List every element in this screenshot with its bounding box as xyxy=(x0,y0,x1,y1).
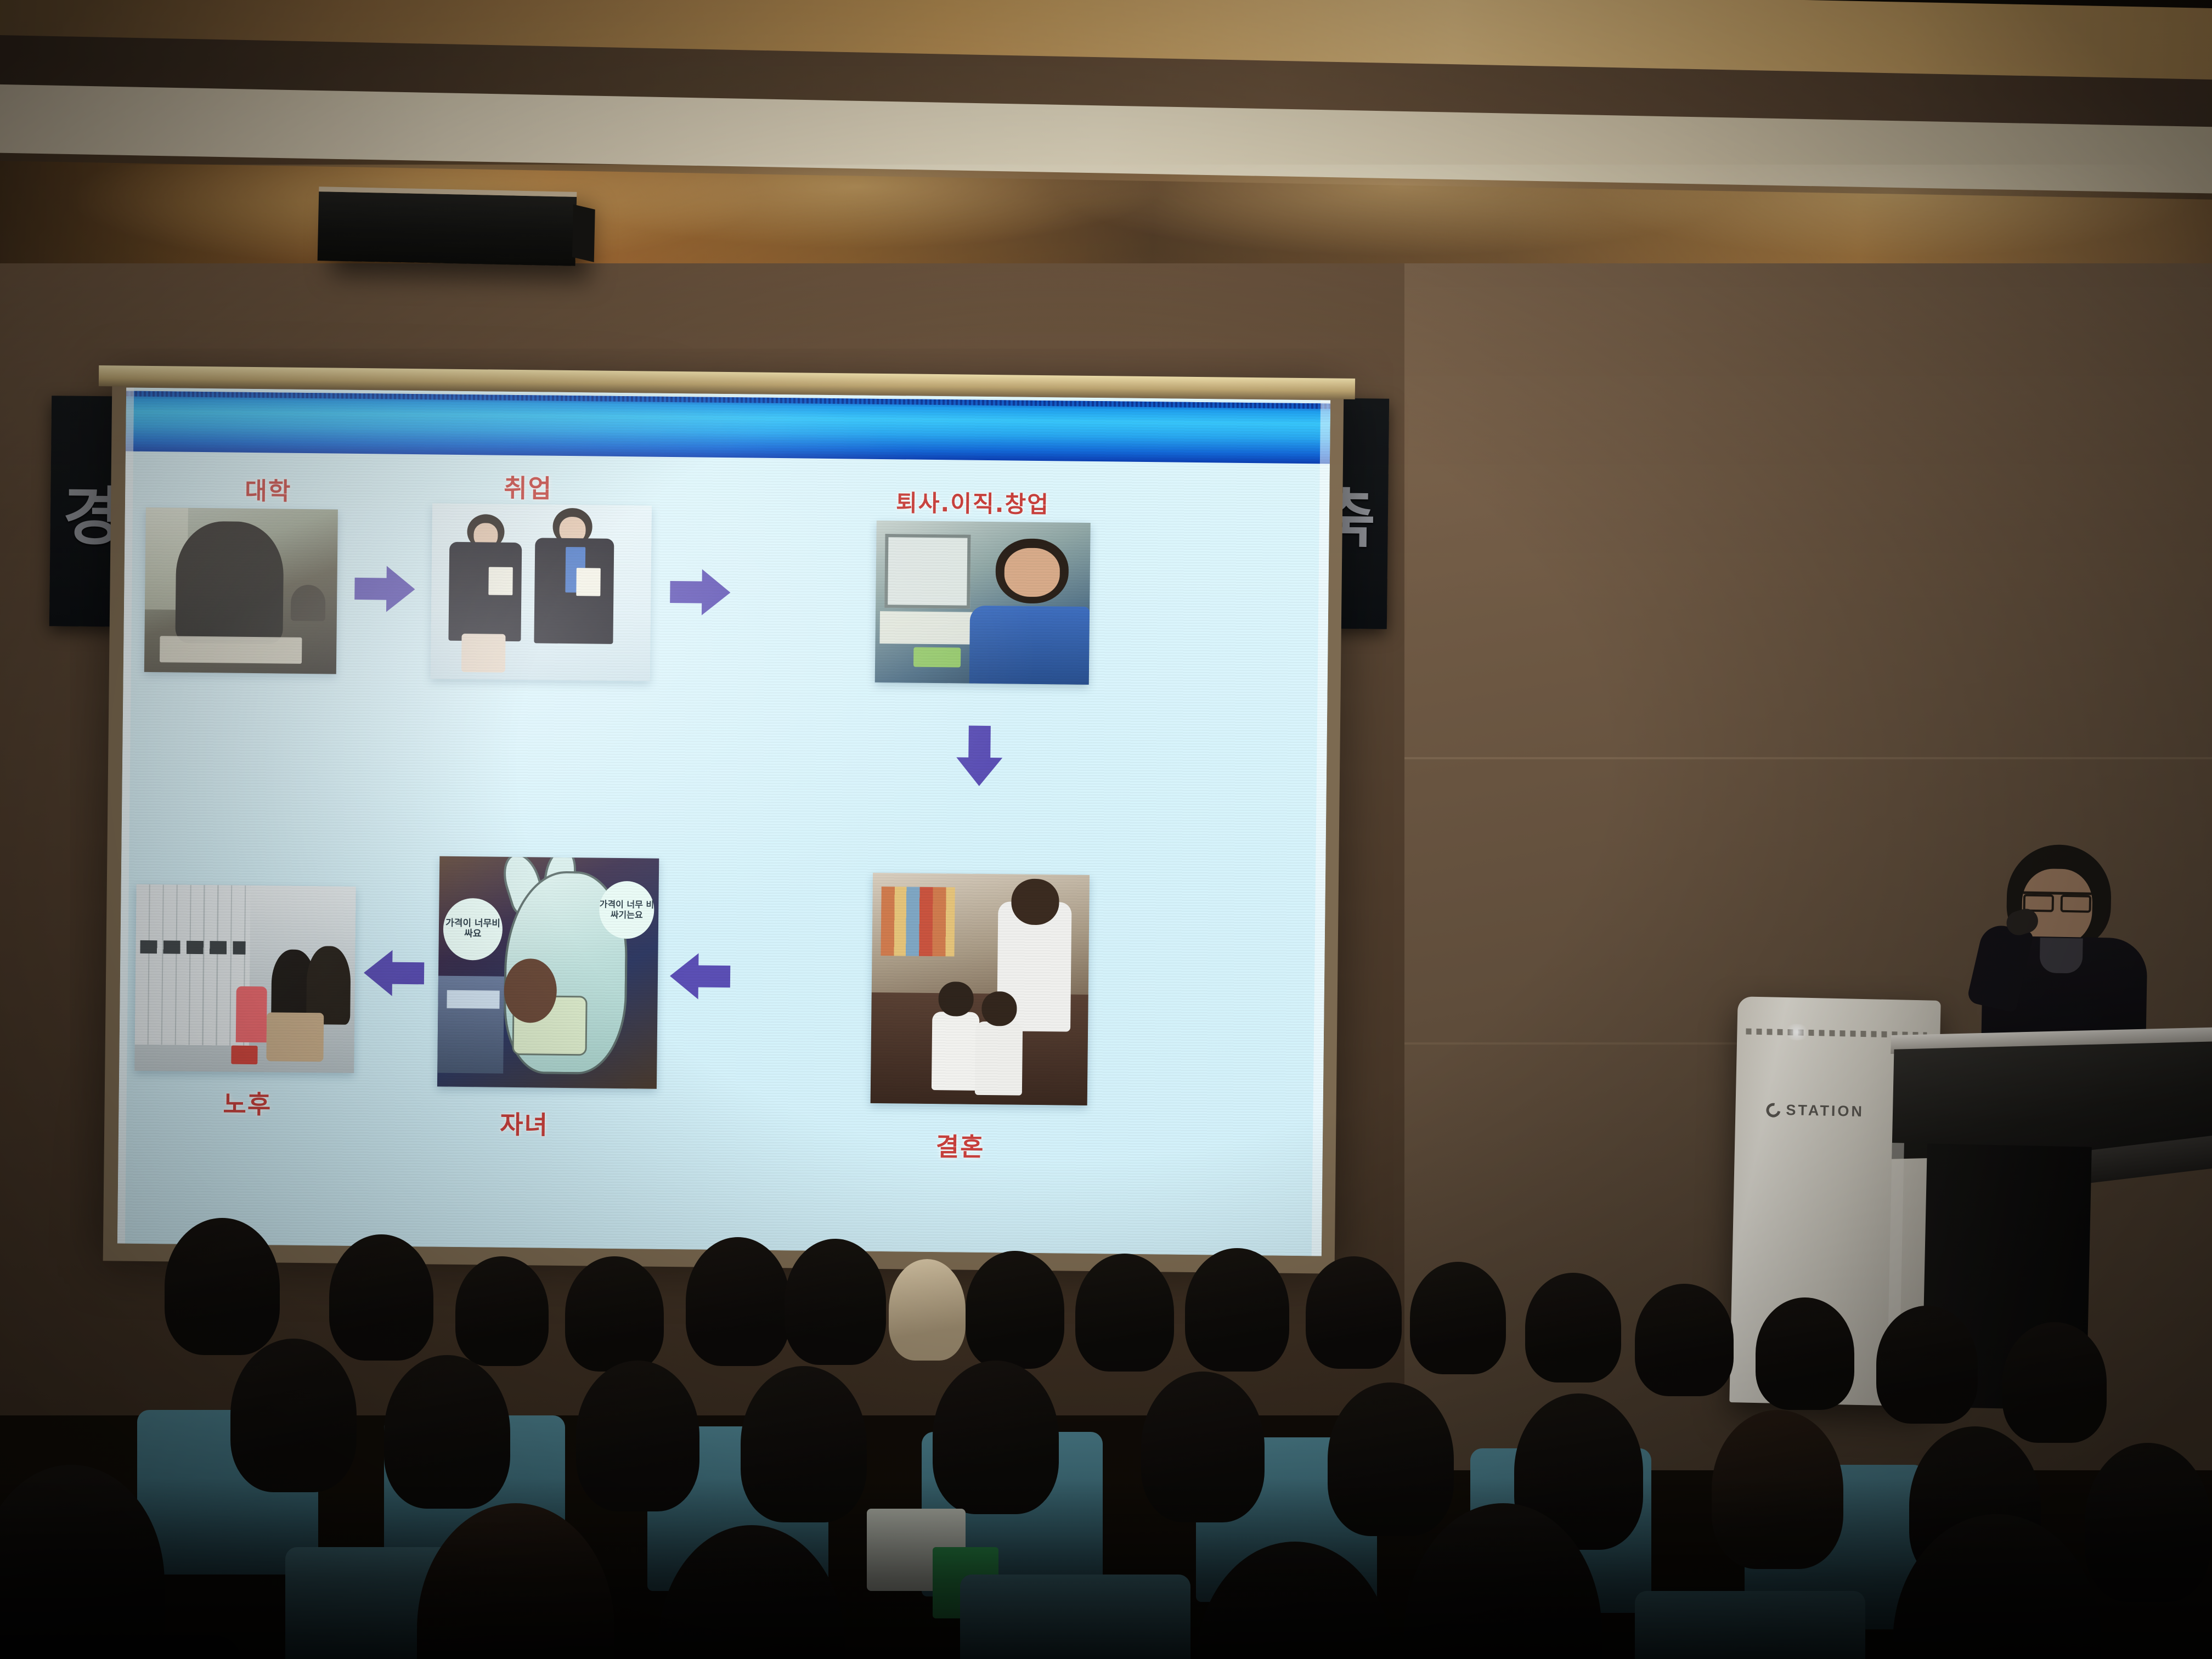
audience-head xyxy=(165,1218,280,1355)
ceiling-speaker-box xyxy=(318,187,577,266)
step-label-university: 대학 xyxy=(245,471,292,507)
projection-screen-surface: 대학 취업 xyxy=(117,388,1330,1256)
audience-head xyxy=(785,1239,886,1365)
wall-seam xyxy=(1404,757,2212,759)
cartoon-shelf-row xyxy=(447,990,499,1009)
audience-head xyxy=(576,1361,699,1511)
arrow-marriage-to-children-icon xyxy=(669,953,731,1000)
audience-head xyxy=(1306,1256,1402,1369)
counter-red-object xyxy=(231,1046,257,1065)
speech-bubble-right: 가격이 너무 비싸기는요 xyxy=(599,881,654,939)
station-logo-icon xyxy=(1763,1100,1783,1120)
retiree-bag xyxy=(266,1013,324,1062)
desk-lamp xyxy=(291,585,326,622)
audience-head xyxy=(2002,1322,2107,1443)
audience-head xyxy=(1756,1297,1854,1410)
audience-head xyxy=(1328,1383,1454,1536)
ceiling xyxy=(0,0,2212,307)
audience-head xyxy=(1712,1410,1843,1569)
retiree-pink-coat xyxy=(236,986,267,1042)
audience-head xyxy=(1876,1306,1978,1424)
auditorium-seat xyxy=(1635,1591,1865,1659)
step-label-marriage: 결혼 xyxy=(936,1127,985,1164)
child-2-head xyxy=(982,991,1017,1026)
audience-head xyxy=(2085,1443,2211,1602)
audience-head xyxy=(329,1234,433,1361)
arrow-employment-to-career-icon xyxy=(670,569,732,616)
cabinet-brand: STATION xyxy=(1766,1101,1864,1120)
arrow-career-to-marriage-icon xyxy=(956,725,1003,787)
child-2-body xyxy=(974,1022,1023,1096)
photo-career-office xyxy=(875,521,1091,685)
arrow-university-to-employment-icon xyxy=(354,566,416,612)
office-monitor xyxy=(884,534,970,609)
audience-head xyxy=(933,1361,1059,1514)
audience-head xyxy=(1075,1254,1174,1372)
slide-header-band xyxy=(126,391,1330,464)
audience-head xyxy=(889,1259,966,1361)
bookshelf xyxy=(881,887,955,956)
office-papers xyxy=(879,611,978,645)
office-green-object xyxy=(913,647,961,667)
speech-bubble-left: 가격이 너무비싸요 xyxy=(443,898,503,961)
audience-head xyxy=(686,1237,790,1366)
locker-dark-row xyxy=(140,940,245,955)
audience-head xyxy=(1525,1273,1621,1383)
audience-head xyxy=(1185,1248,1289,1372)
presentation-slide: 대학 취업 xyxy=(117,388,1330,1256)
photo-children-kangaroo-cartoon: 가격이 너무비싸요 가격이 너무 비싸기는요 xyxy=(437,856,659,1089)
child-1-body xyxy=(931,1012,979,1091)
photo-retirement xyxy=(134,884,356,1073)
audience-head xyxy=(230,1339,357,1492)
photo-university-studying xyxy=(144,507,338,674)
station-brand-text: STATION xyxy=(1786,1102,1864,1120)
audience xyxy=(0,1196,2212,1659)
photo-employment-interview xyxy=(431,503,652,681)
audience-head xyxy=(741,1366,867,1522)
lecture-hall-photo: 경 축 대학 취업 xyxy=(0,0,2212,1659)
applicant-1-badge xyxy=(488,567,513,596)
cabinet-highlight xyxy=(1784,1024,1810,1041)
office-worker-face xyxy=(1004,548,1060,597)
audience-head xyxy=(1410,1262,1506,1374)
applicant-1-legs xyxy=(461,634,506,673)
locker-wall xyxy=(135,884,251,1046)
presenter-collar xyxy=(2040,938,2083,973)
photo-marriage-family xyxy=(871,873,1090,1105)
step-label-career-move: 퇴사.이직.창업 xyxy=(896,484,1049,520)
applicant-2-badge xyxy=(576,568,601,596)
audience-head xyxy=(455,1256,549,1366)
audience-head xyxy=(1141,1372,1265,1522)
desk-papers xyxy=(160,636,302,664)
audience-head xyxy=(565,1256,664,1372)
step-label-retirement: 노후 xyxy=(223,1084,272,1121)
office-worker-shirt xyxy=(969,606,1090,685)
student-figure xyxy=(175,521,284,644)
audience-head xyxy=(966,1251,1064,1369)
arrow-children-to-retirement-icon xyxy=(363,950,425,996)
audience-head xyxy=(384,1355,510,1509)
auditorium-seat xyxy=(960,1575,1190,1659)
child-1-head xyxy=(939,982,974,1017)
audience-shoulders xyxy=(0,1635,241,1659)
father-head xyxy=(1011,879,1059,926)
step-label-children: 자녀 xyxy=(500,1105,549,1142)
step-label-employment: 취업 xyxy=(504,469,552,505)
glasses-icon xyxy=(2023,891,2091,907)
audience-head xyxy=(1635,1284,1734,1396)
